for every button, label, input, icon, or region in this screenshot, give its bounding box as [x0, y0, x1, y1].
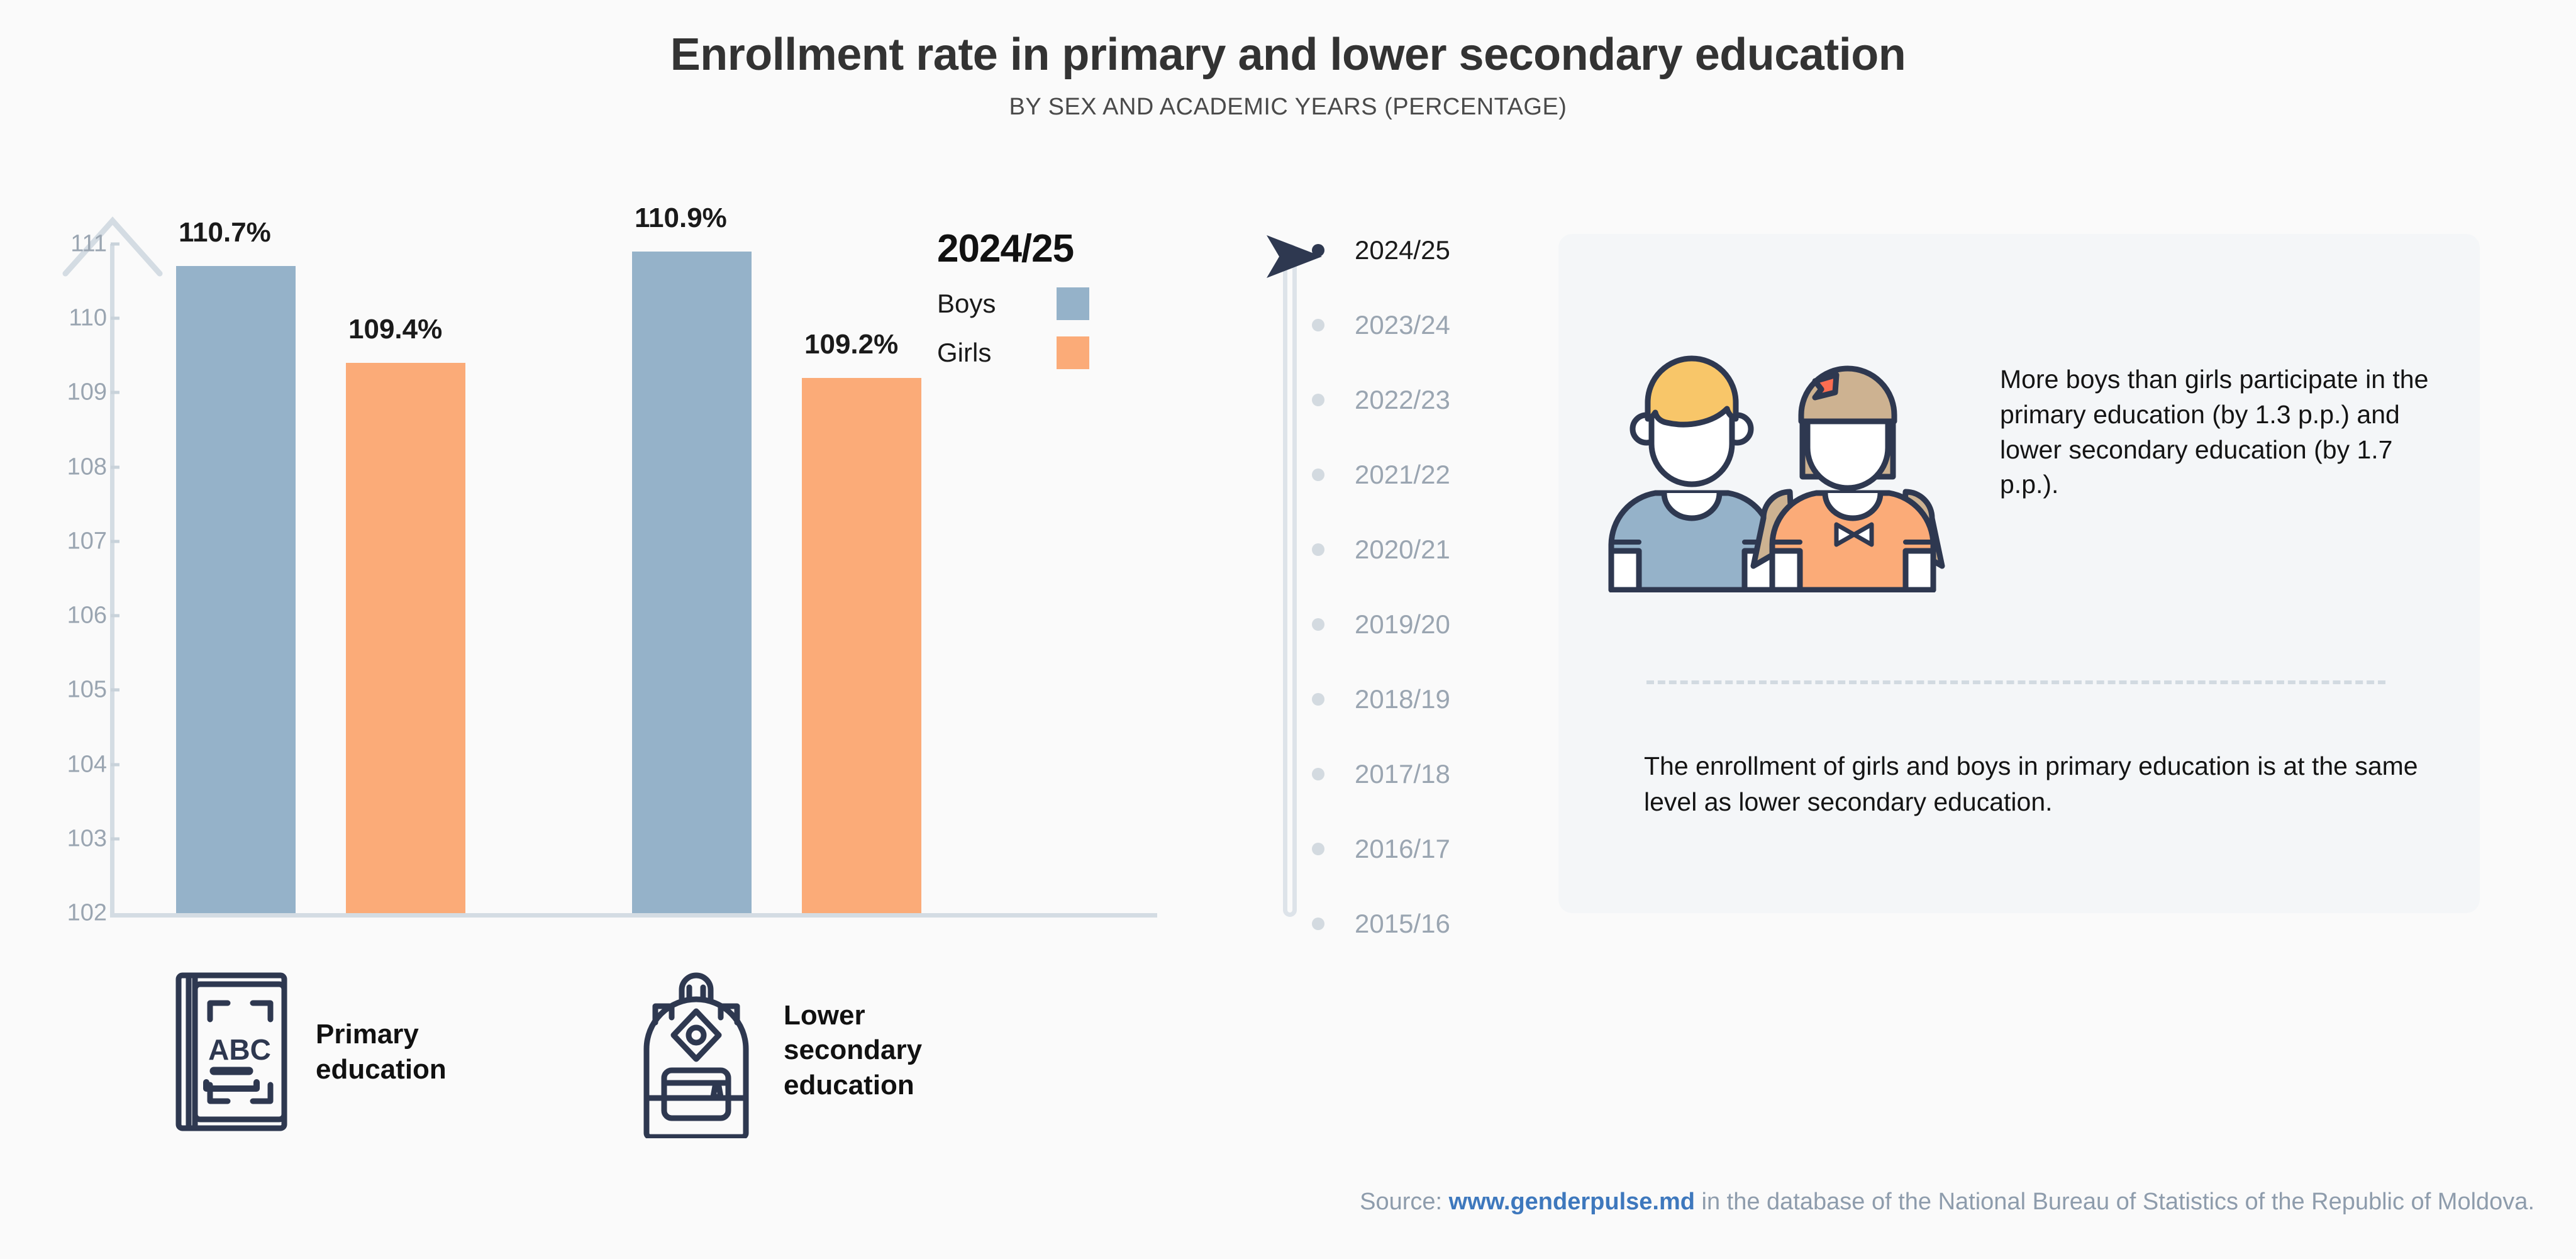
legend-swatch-boys — [1057, 287, 1089, 320]
timeline-dot-icon — [1312, 693, 1324, 706]
bar-value-label: 110.9% — [635, 202, 727, 234]
info-panel-top: More boys than girls participate in the … — [1594, 341, 2440, 592]
timeline-item-2019-20[interactable]: 2019/20 — [1270, 607, 1535, 642]
info-paragraph-1: More boys than girls participate in the … — [2000, 341, 2440, 502]
source-link[interactable]: www.genderpulse.md — [1449, 1189, 1695, 1215]
y-axis-tick-label: 103 — [19, 825, 107, 852]
y-axis-tick-mark — [111, 837, 119, 840]
bar[interactable] — [176, 266, 296, 913]
y-axis-tick-label: 102 — [19, 900, 107, 927]
timeline-dot-icon — [1312, 469, 1324, 481]
backpack-icon — [636, 962, 756, 1138]
info-panel: More boys than girls participate in the … — [1558, 234, 2480, 913]
category-label-primary: Primary education — [316, 1017, 447, 1087]
y-axis-tick-mark — [111, 317, 119, 320]
y-axis-tick-mark — [111, 391, 119, 394]
x-axis-line — [110, 913, 1157, 918]
timeline-item-label: 2016/17 — [1355, 834, 1450, 864]
y-axis-tick-label: 107 — [19, 528, 107, 555]
timeline-item-2018-19[interactable]: 2018/19 — [1270, 682, 1535, 717]
timeline-dot-icon — [1312, 543, 1324, 556]
y-axis-tick-label: 109 — [19, 379, 107, 406]
timeline-item-label: 2019/20 — [1355, 609, 1450, 640]
chart-legend: 2024/25 Boys Girls — [937, 226, 1201, 369]
timeline-item-label: 2018/19 — [1355, 684, 1450, 714]
y-axis-tick-label: 104 — [19, 751, 107, 778]
timeline-item-label: 2015/16 — [1355, 909, 1450, 939]
timeline-item-2020-21[interactable]: 2020/21 — [1270, 532, 1535, 567]
info-paragraph-2: The enrollment of girls and boys in prim… — [1644, 748, 2430, 819]
info-divider — [1646, 680, 2385, 684]
category-primary-education[interactable]: ABC Primary education — [175, 972, 447, 1132]
bar-value-label: 110.7% — [179, 217, 271, 248]
boy-and-girl-illustration-icon — [1594, 341, 1946, 592]
timeline-item-2017-18[interactable]: 2017/18 — [1270, 757, 1535, 792]
category-lower-secondary-education[interactable]: Lower secondary education — [636, 962, 922, 1138]
timeline-item-label: 2023/24 — [1355, 310, 1450, 340]
y-axis-tick-label: 111 — [19, 231, 107, 258]
y-axis-tick-mark — [111, 465, 119, 469]
timeline-dot-icon — [1312, 394, 1324, 406]
legend-label-girls: Girls — [937, 338, 1057, 368]
legend-item-girls[interactable]: Girls — [937, 336, 1201, 369]
timeline-item-label: 2020/21 — [1355, 535, 1450, 565]
legend-label-boys: Boys — [937, 289, 1057, 319]
timeline-item-2022-23[interactable]: 2022/23 — [1270, 382, 1535, 418]
svg-text:ABC: ABC — [208, 1033, 271, 1066]
bar-value-label: 109.4% — [348, 314, 442, 345]
y-axis-tick-mark — [111, 614, 119, 618]
page-subtitle: BY SEX AND ACADEMIC YEARS (PERCENTAGE) — [0, 94, 2576, 121]
legend-selected-year: 2024/25 — [937, 226, 1201, 271]
timeline-item-label: 2024/25 — [1355, 235, 1450, 265]
timeline-item-2024-25[interactable]: 2024/25 — [1270, 233, 1535, 268]
timeline-dot-icon — [1312, 618, 1324, 631]
y-axis-tick-mark — [111, 689, 119, 692]
timeline-dot-icon — [1312, 319, 1324, 331]
abc-book-icon: ABC — [175, 972, 288, 1132]
y-axis-tick-mark — [111, 763, 119, 766]
y-axis-tick-mark — [111, 243, 119, 246]
header: Enrollment rate in primary and lower sec… — [0, 30, 2576, 121]
timeline-track[interactable] — [1283, 244, 1297, 917]
bar[interactable] — [346, 363, 465, 913]
legend-item-boys[interactable]: Boys — [937, 287, 1201, 320]
y-axis-tick-label: 105 — [19, 677, 107, 704]
timeline-item-2021-22[interactable]: 2021/22 — [1270, 457, 1535, 492]
legend-swatch-girls — [1057, 336, 1089, 369]
category-label-lower-secondary: Lower secondary education — [784, 998, 922, 1102]
timeline-item-2016-17[interactable]: 2016/17 — [1270, 831, 1535, 867]
source-footer: Source: www.genderpulse.md in the databa… — [0, 1189, 2534, 1216]
bar[interactable] — [632, 252, 752, 913]
timeline-dot-icon — [1312, 768, 1324, 780]
timeline-dot-icon — [1312, 918, 1324, 930]
footer-prefix: Source: — [1360, 1189, 1449, 1215]
bar[interactable] — [802, 378, 921, 913]
y-axis-line — [110, 244, 114, 915]
timeline-item-label: 2017/18 — [1355, 759, 1450, 789]
y-axis-tick-label: 108 — [19, 453, 107, 480]
timeline-item-2015-16[interactable]: 2015/16 — [1270, 906, 1535, 941]
timeline-item-label: 2022/23 — [1355, 385, 1450, 415]
y-axis-tick-label: 106 — [19, 602, 107, 629]
timeline-dot-icon — [1312, 843, 1324, 855]
timeline-item-label: 2021/22 — [1355, 460, 1450, 490]
timeline-dot-icon — [1312, 244, 1324, 257]
y-axis-tick-mark — [111, 540, 119, 543]
footer-suffix: in the database of the National Bureau o… — [1695, 1189, 2534, 1215]
y-axis-tick-label: 110 — [19, 305, 107, 332]
timeline-item-2023-24[interactable]: 2023/24 — [1270, 308, 1535, 343]
bar-value-label: 109.2% — [804, 329, 898, 360]
page-title: Enrollment rate in primary and lower sec… — [0, 30, 2576, 80]
year-timeline-selector[interactable]: 2024/252023/242022/232021/222020/212019/… — [1270, 233, 1535, 931]
